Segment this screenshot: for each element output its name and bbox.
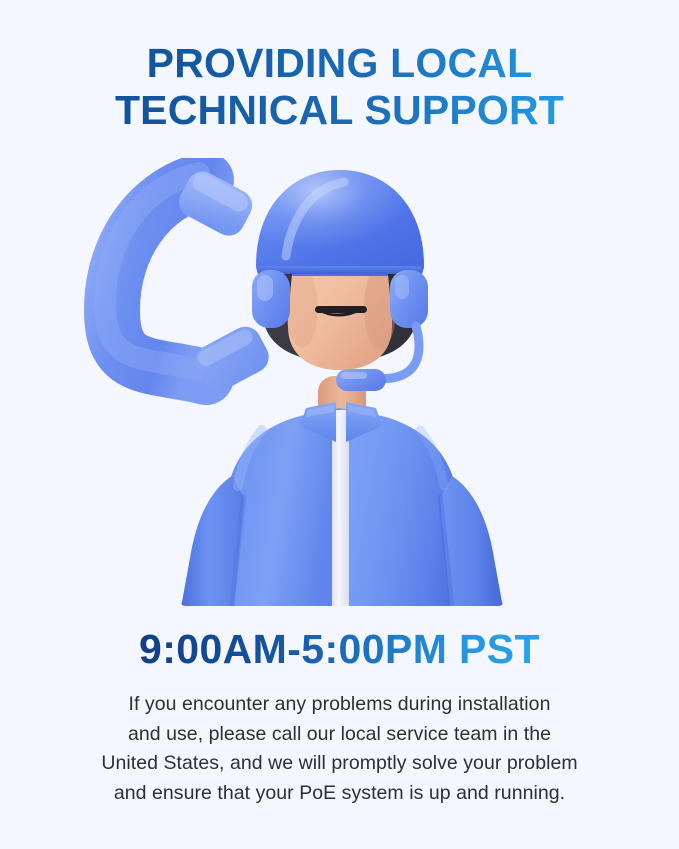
support-description-line-2: and use, please call our local service t… <box>0 720 679 750</box>
support-description-line-3: United States, and we will promptly solv… <box>0 749 679 779</box>
page-title-line-1: PROVIDING LOCAL <box>0 40 679 87</box>
support-poster: PROVIDING LOCAL TECHNICAL SUPPORT <box>0 0 679 849</box>
agent-cap <box>256 170 424 276</box>
support-agent-3d-graphic <box>0 158 679 608</box>
agent-jacket <box>181 376 502 606</box>
support-description-line-4: and ensure that your PoE system is up an… <box>0 779 679 809</box>
support-description-line-1: If you encounter any problems during ins… <box>0 690 679 720</box>
agent-head <box>256 170 424 370</box>
page-title-line-2: TECHNICAL SUPPORT <box>0 87 679 134</box>
support-hours-text: 9:00AM-5:00PM PST <box>139 626 540 673</box>
phone-handset-icon <box>105 166 274 396</box>
headset-earcup-right <box>390 270 428 328</box>
support-description: If you encounter any problems during ins… <box>0 690 679 809</box>
support-hours: 9:00AM-5:00PM PST <box>0 626 679 673</box>
page-title: PROVIDING LOCAL TECHNICAL SUPPORT <box>0 40 679 133</box>
support-agent-illustration <box>0 158 679 608</box>
